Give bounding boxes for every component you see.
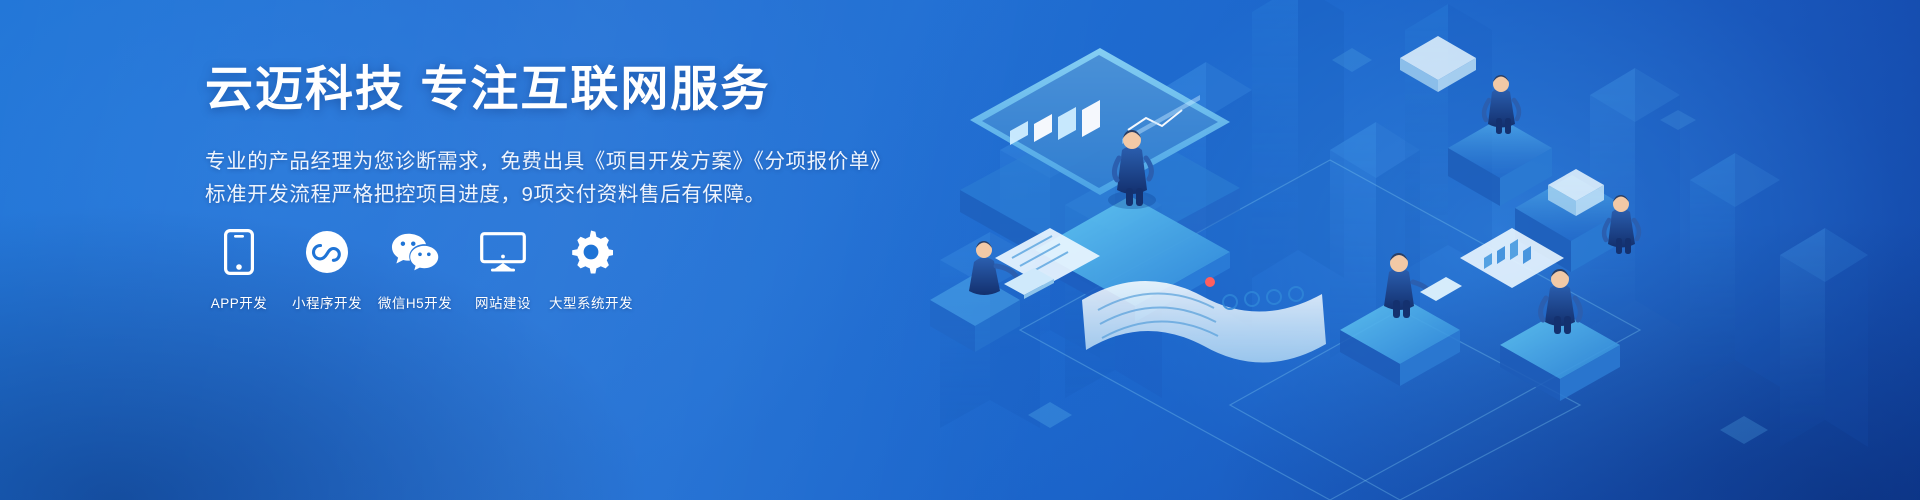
service-label: 微信H5开发	[378, 292, 452, 312]
hero-text-block: 云迈科技 专注互联网服务 专业的产品经理为您诊断需求，免费出具《项目开发方案》《…	[205, 62, 905, 211]
monitor-icon	[479, 228, 527, 276]
subtitle-line-1: 专业的产品经理为您诊断需求，免费出具《项目开发方案》《分项报价单》	[205, 145, 905, 178]
service-label: APP开发	[211, 292, 268, 312]
service-label: 小程序开发	[292, 292, 362, 312]
gear-icon	[567, 228, 615, 276]
mobile-phone-icon	[215, 228, 263, 276]
hero-subtitle: 专业的产品经理为您诊断需求，免费出具《项目开发方案》《分项报价单》 标准开发流程…	[205, 145, 905, 211]
service-item-app[interactable]: APP开发	[203, 228, 275, 312]
person-lower-left	[1384, 253, 1462, 318]
mini-program-icon	[303, 228, 351, 276]
subtitle-line-2: 标准开发流程严格把控项目进度，9项交付资料售后有保障。	[205, 178, 905, 211]
hero-banner: 云迈科技 专注互联网服务 专业的产品经理为您诊断需求，免费出具《项目开发方案》《…	[0, 0, 1920, 500]
service-item-website[interactable]: 网站建设	[467, 228, 539, 312]
service-item-large-system[interactable]: 大型系统开发	[555, 228, 627, 312]
service-item-wechat-h5[interactable]: 微信H5开发	[379, 228, 451, 312]
service-label: 网站建设	[475, 292, 531, 312]
page-title: 云迈科技 专注互联网服务	[205, 62, 905, 119]
service-label: 大型系统开发	[549, 292, 633, 312]
wechat-icon	[391, 228, 439, 276]
service-list: APP开发 小程序开发 微信	[203, 228, 627, 312]
hero-illustration	[900, 0, 1920, 500]
service-item-mini-program[interactable]: 小程序开发	[291, 228, 363, 312]
